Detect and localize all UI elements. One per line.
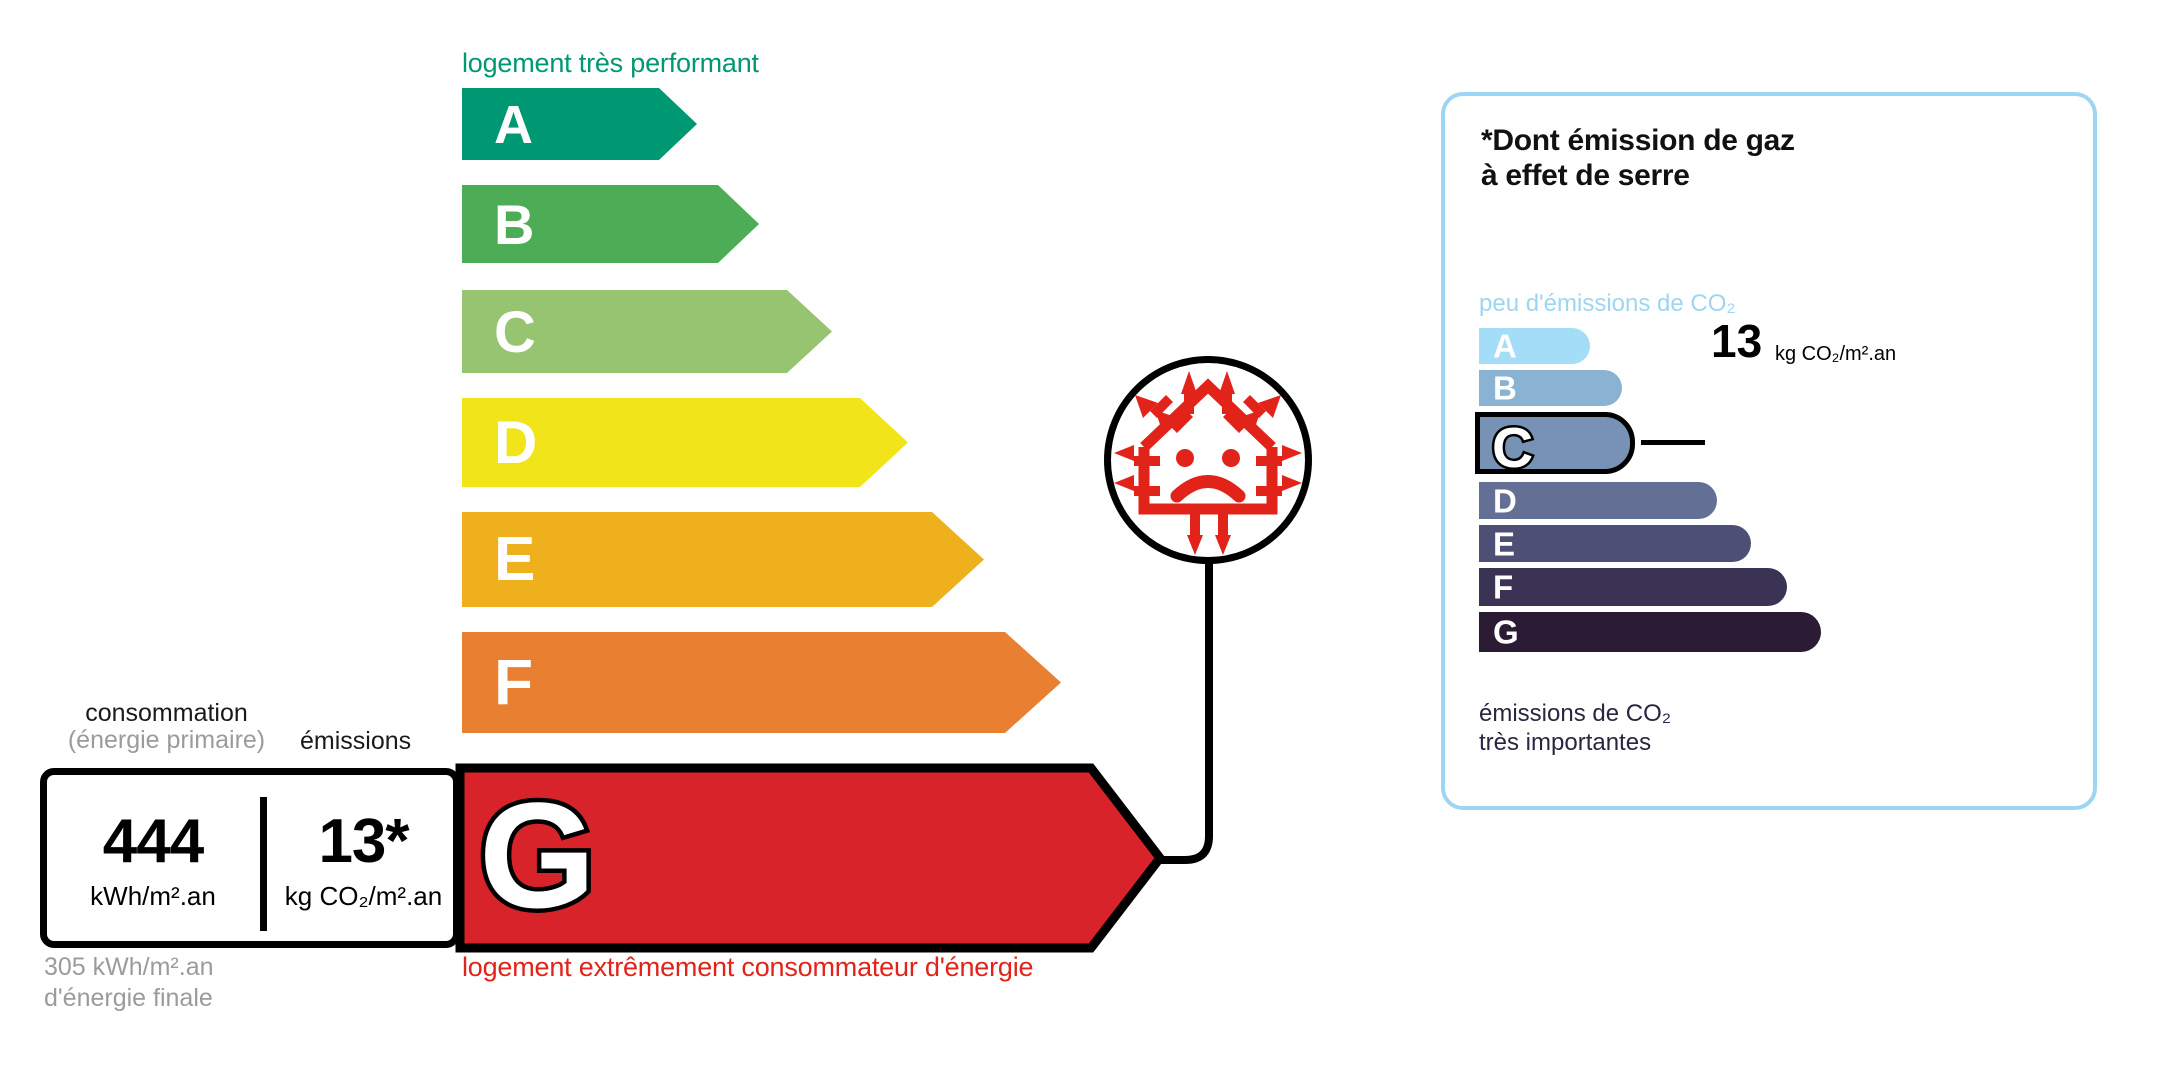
energy-band-c: C — [462, 290, 832, 373]
co2-bar-c-current: C — [1475, 412, 1635, 474]
eye-right-icon — [1222, 449, 1240, 467]
heat-loss-badge — [1104, 356, 1312, 564]
sad-house-heat-loss-icon — [1111, 363, 1305, 557]
consumption-unit: kWh/m².an — [47, 883, 259, 909]
co2-bar-f-letter: F — [1493, 571, 1513, 604]
co2-bar-g-letter: G — [1493, 616, 1519, 649]
co2-bar-b: B — [1479, 370, 1622, 406]
co2-bar-c-letter: C — [1490, 419, 1562, 477]
energy-band-b-letter: B — [494, 197, 533, 253]
consumption-label: consommation (énergie primaire) — [44, 700, 289, 754]
emissions-value-cell: 13* kg CO₂/m².an — [267, 775, 460, 941]
co2-bar-a: A — [1479, 328, 1590, 364]
emissions-unit: kg CO₂/m².an — [267, 883, 460, 909]
final-energy-note-line2: d'énergie finale — [44, 983, 214, 1014]
co2-top-caption: peu d'émissions de CO₂ — [1479, 290, 1736, 318]
co2-foot-caption: émissions de CO₂ très importantes — [1479, 700, 1671, 758]
co2-bar-d: D — [1479, 482, 1717, 519]
value-box: 444 kWh/m².an 13* kg CO₂/m².an — [40, 768, 460, 948]
co2-panel-title-line2: à effet de serre — [1481, 159, 1795, 194]
emissions-label: émissions — [300, 727, 411, 756]
co2-bar-b-letter: B — [1493, 372, 1517, 405]
final-energy-note: 305 kWh/m².an d'énergie finale — [44, 952, 214, 1015]
co2-bar-a-letter: A — [1493, 330, 1517, 363]
co2-bar-g: G — [1479, 612, 1821, 652]
co2-foot-caption-line1: émissions de CO₂ — [1479, 700, 1671, 729]
energy-band-f-letter: F — [494, 650, 532, 714]
energy-band-e: E — [462, 512, 984, 607]
co2-bar-e: E — [1479, 525, 1751, 562]
energy-band-c-letter: C — [494, 304, 535, 362]
energy-band-f: F — [462, 632, 1061, 733]
co2-bar-e-letter: E — [1493, 527, 1515, 560]
co2-bar-d-letter: D — [1493, 484, 1517, 517]
energy-band-g-letter: G — [475, 785, 635, 935]
consumption-label-sub: (énergie primaire) — [44, 727, 289, 754]
co2-panel-title: *Dont émission de gaz à effet de serre — [1481, 124, 1795, 194]
co2-foot-caption-line2: très importantes — [1479, 729, 1671, 758]
eye-left-icon — [1176, 449, 1194, 467]
energy-performance-ladder: logement très performant A B C D E — [0, 0, 1330, 1079]
energy-band-e-letter: E — [494, 529, 534, 591]
co2-current-unit: kg CO₂/m².an — [1775, 343, 1896, 366]
energy-band-a: A — [462, 88, 697, 160]
consumption-value: 444 — [47, 811, 259, 873]
badge-connector-line — [1090, 548, 1330, 878]
consumption-value-cell: 444 kWh/m².an — [47, 775, 259, 941]
svg-text:C: C — [1492, 419, 1533, 477]
svg-text:G: G — [479, 771, 596, 939]
frown-mouth-icon — [1177, 482, 1239, 497]
co2-bar-f: F — [1479, 568, 1787, 606]
energy-band-b: B — [462, 185, 759, 263]
co2-panel-title-line1: *Dont émission de gaz — [1481, 124, 1795, 159]
ladder-top-caption: logement très performant — [462, 48, 759, 79]
final-energy-note-line1: 305 kWh/m².an — [44, 952, 214, 983]
emissions-value: 13* — [267, 811, 460, 873]
energy-band-g: G — [455, 763, 1165, 953]
consumption-label-main: consommation — [85, 699, 248, 727]
co2-leader-line — [1641, 440, 1705, 445]
energy-band-d-letter: D — [494, 413, 536, 473]
value-box-divider — [260, 797, 267, 931]
energy-band-a-letter: A — [494, 98, 532, 152]
ladder-bottom-caption: logement extrêmement consommateur d'éner… — [462, 952, 1033, 983]
co2-current-value: 13 — [1711, 318, 1762, 364]
energy-band-d: D — [462, 398, 908, 487]
co2-panel: *Dont émission de gaz à effet de serre p… — [1441, 92, 2097, 810]
